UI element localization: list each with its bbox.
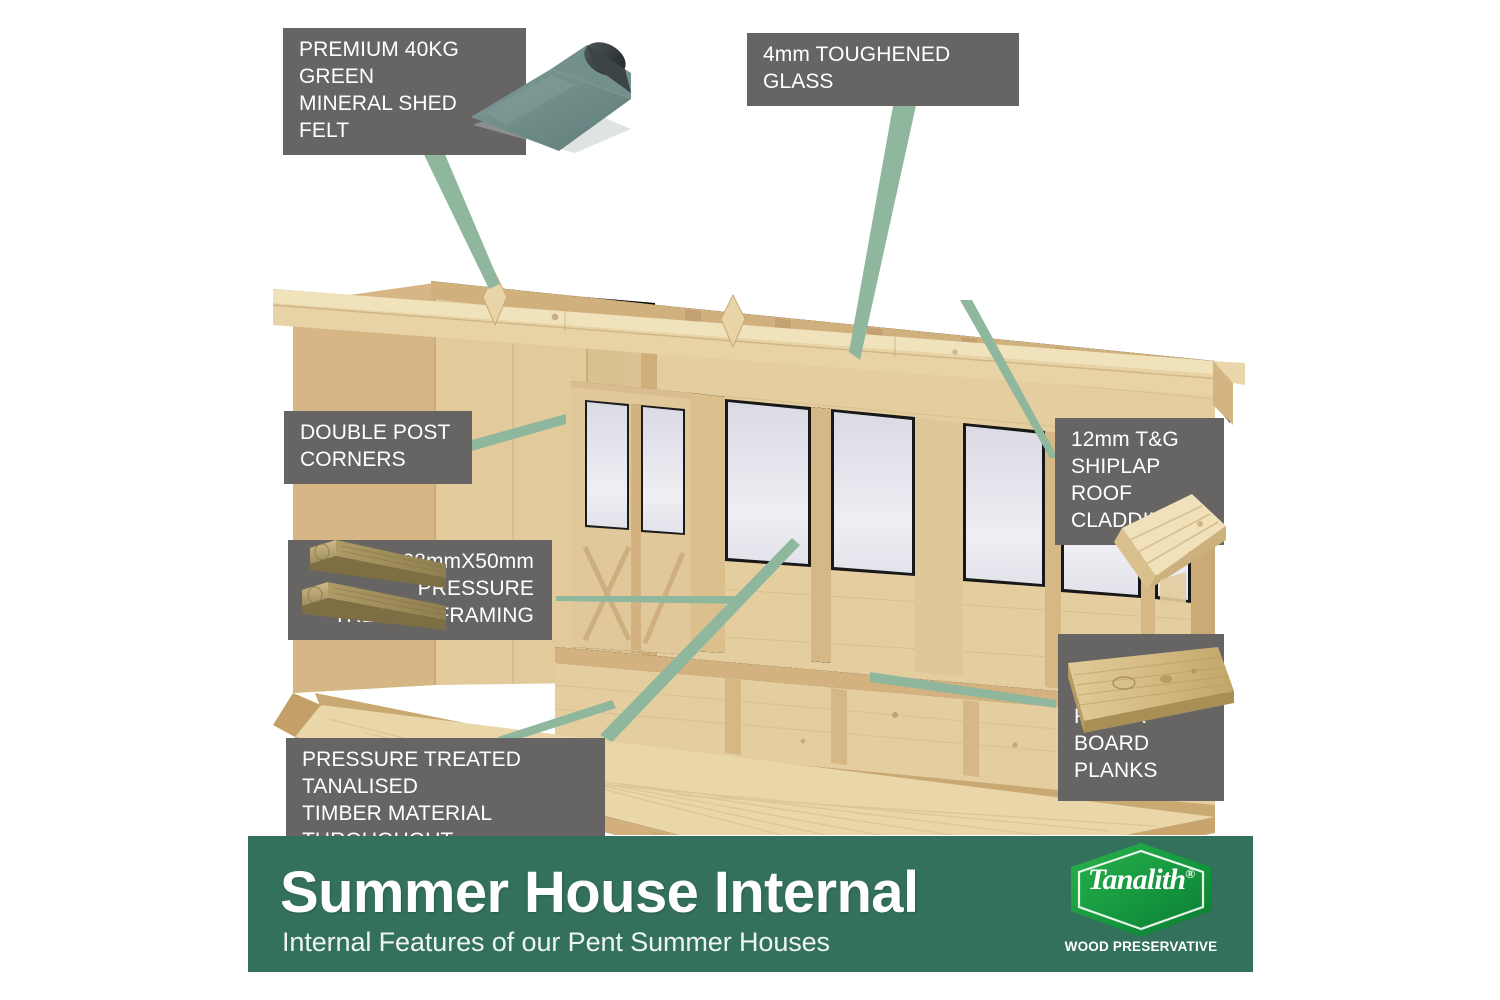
tanalith-logo: Tanalith® WOOD PRESERVATIVE [1051,841,1231,965]
framing-timber-sample [296,534,446,638]
tanalith-tagline: WOOD PRESERVATIVE [1051,939,1231,954]
window-pane-3 [966,426,1042,584]
tanalith-wordmark: Tanalith® [1051,863,1231,897]
double-doors [571,381,691,655]
window-pane-2 [834,412,912,573]
tanalith-registered-mark: ® [1185,866,1194,881]
page-title: Summer House Internal [280,864,918,922]
shed-felt-roll-sample [455,33,645,161]
page-subtitle: Internal Features of our Pent Summer Hou… [282,929,830,956]
floor-board-plank-sample [1062,645,1240,757]
callout-double-post-corners: DOUBLE POST CORNERS [284,411,472,484]
door-glass-right [643,407,683,533]
tanalith-brand-text: Tanalith [1088,863,1186,896]
callout-toughened-glass: 4mm TOUGHENED GLASS [747,33,1019,106]
title-banner: Summer House Internal Internal Features … [248,836,1253,972]
shiplap-board-sample [1100,484,1230,606]
infographic-canvas: PREMIUM 40KG GREEN MINERAL SHED FELT 4mm… [0,0,1500,1000]
window-pane-1 [728,402,808,564]
door-glass-left [587,402,627,528]
